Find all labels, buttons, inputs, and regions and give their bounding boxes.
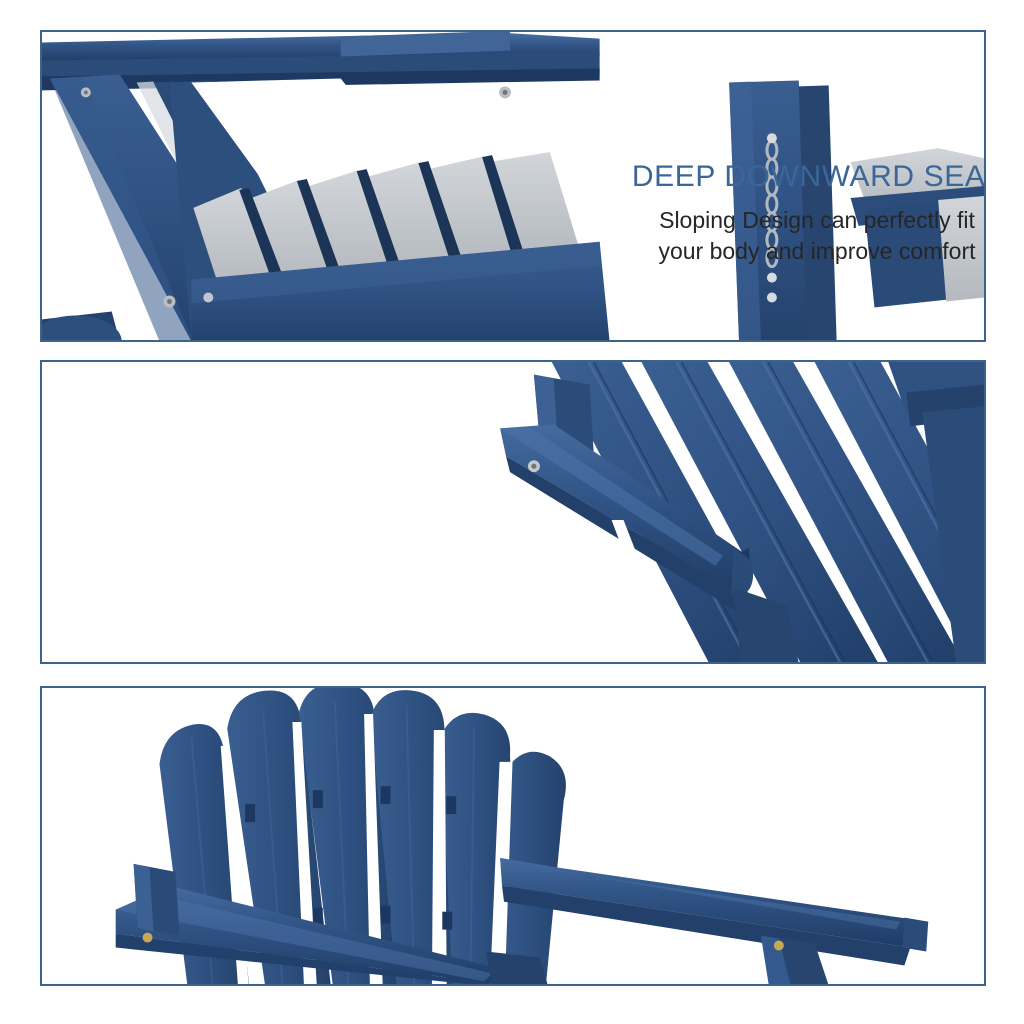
feature-panel-deep-downward-seat: DEEP DOWNWARD SEAT Sloping Design can pe… [40, 30, 986, 342]
panel-body-line: your body and improve comfort [617, 236, 986, 267]
feature-panel-ergonomic-armrest: ERGONOMIC ARMREST Wide armrests on both … [40, 360, 986, 664]
chair-armrest-closeup-image [42, 362, 984, 662]
infographic-page: DEEP DOWNWARD SEAT Sloping Design can pe… [0, 0, 1024, 1024]
feature-text-deep-downward-seat: DEEP DOWNWARD SEAT Sloping Design can pe… [617, 160, 986, 267]
feature-panel-extra-tall-backrest: EXTRA TALL BACKREST High backrest to giv… [40, 686, 986, 986]
chair-backrest-full-image [42, 688, 984, 984]
panel-body-line: Sloping Design can perfectly fit [617, 205, 986, 236]
panel-heading: DEEP DOWNWARD SEAT [617, 160, 986, 193]
